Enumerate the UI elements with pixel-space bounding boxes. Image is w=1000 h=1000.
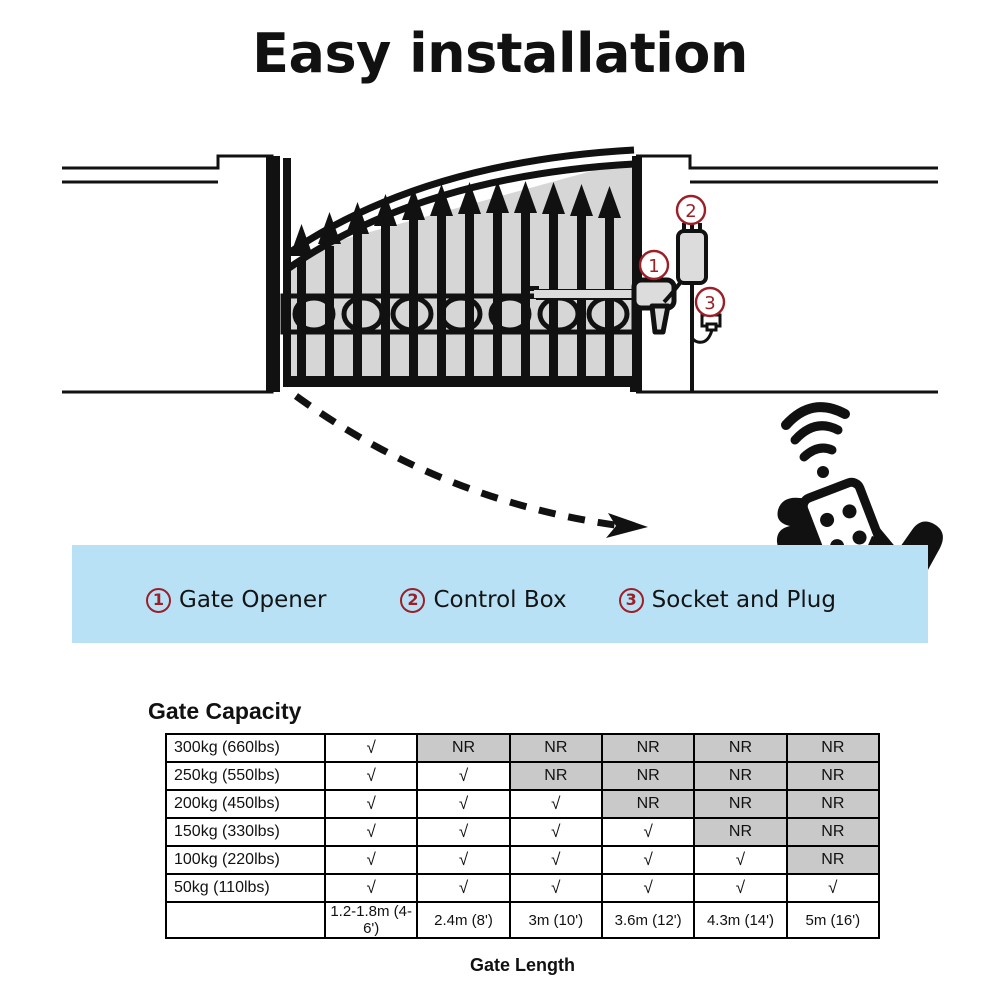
cell-not-recommended: NR xyxy=(787,846,879,874)
cell-not-recommended: NR xyxy=(510,762,602,790)
column-header-length: 1.2-1.8m (4-6') xyxy=(325,902,417,938)
page-title: Easy installation xyxy=(0,22,1000,85)
cell-supported: √ xyxy=(694,846,786,874)
cell-not-recommended: NR xyxy=(694,790,786,818)
callout-2: 2 xyxy=(677,196,705,224)
cell-supported: √ xyxy=(510,818,602,846)
row-header-weight: 250kg (550lbs) xyxy=(166,762,325,790)
table-row: 250kg (550lbs)√√NRNRNRNR xyxy=(166,762,879,790)
cell-supported: √ xyxy=(325,762,417,790)
table-row: 300kg (660lbs)√NRNRNRNRNR xyxy=(166,734,879,762)
column-header-length: 2.4m (8') xyxy=(417,902,509,938)
svg-text:2: 2 xyxy=(685,201,696,222)
column-header-length: 3m (10') xyxy=(510,902,602,938)
legend-item-control-box: 2 Control Box xyxy=(400,587,566,613)
cell-supported: √ xyxy=(325,818,417,846)
table-column-label-row: 1.2-1.8m (4-6')2.4m (8')3m (10')3.6m (12… xyxy=(166,902,879,938)
row-header-weight: 200kg (450lbs) xyxy=(166,790,325,818)
callout-1: 1 xyxy=(640,251,668,279)
cell-not-recommended: NR xyxy=(787,790,879,818)
cell-not-recommended: NR xyxy=(602,790,694,818)
legend-item-gate-opener: 1 Gate Opener xyxy=(146,587,326,613)
cell-not-recommended: NR xyxy=(787,734,879,762)
column-header-length: 3.6m (12') xyxy=(602,902,694,938)
callout-3: 3 xyxy=(696,288,724,316)
table-row: 50kg (110lbs)√√√√√√ xyxy=(166,874,879,902)
cell-supported: √ xyxy=(510,846,602,874)
cell-supported: √ xyxy=(694,874,786,902)
column-header-length: 4.3m (14') xyxy=(694,902,786,938)
legend-label-3: Socket and Plug xyxy=(652,587,836,613)
gate-capacity-table: 300kg (660lbs)√NRNRNRNRNR250kg (550lbs)√… xyxy=(165,733,880,939)
svg-text:1: 1 xyxy=(648,256,659,277)
legend-marker-3: 3 xyxy=(619,588,644,613)
cell-not-recommended: NR xyxy=(602,762,694,790)
table-row: 100kg (220lbs)√√√√√NR xyxy=(166,846,879,874)
row-header-weight: 150kg (330lbs) xyxy=(166,818,325,846)
cell-supported: √ xyxy=(325,874,417,902)
row-header-weight: 100kg (220lbs) xyxy=(166,846,325,874)
socket-and-plug-device xyxy=(692,315,720,342)
cell-supported: √ xyxy=(417,790,509,818)
left-wall xyxy=(62,156,272,392)
cell-supported: √ xyxy=(325,846,417,874)
corner-cell xyxy=(166,902,325,938)
legend-list: 1 Gate Opener 2 Control Box 3 Socket and… xyxy=(72,580,928,620)
gate-swing-arc xyxy=(296,396,648,538)
cell-not-recommended: NR xyxy=(602,734,694,762)
legend-marker-2: 2 xyxy=(400,588,425,613)
cell-not-recommended: NR xyxy=(694,818,786,846)
cell-supported: √ xyxy=(417,874,509,902)
cell-not-recommended: NR xyxy=(694,734,786,762)
cell-not-recommended: NR xyxy=(417,734,509,762)
cell-supported: √ xyxy=(510,790,602,818)
cell-not-recommended: NR xyxy=(787,762,879,790)
axis-label-gate-length: Gate Length xyxy=(165,955,880,976)
cell-supported: √ xyxy=(510,874,602,902)
cell-supported: √ xyxy=(787,874,879,902)
cell-supported: √ xyxy=(325,790,417,818)
cell-supported: √ xyxy=(602,846,694,874)
installation-diagram: 1 2 3 xyxy=(0,100,1000,570)
cell-not-recommended: NR xyxy=(694,762,786,790)
capacity-title: Gate Capacity xyxy=(148,698,301,725)
cell-supported: √ xyxy=(325,734,417,762)
cell-supported: √ xyxy=(417,846,509,874)
cell-not-recommended: NR xyxy=(787,818,879,846)
cell-supported: √ xyxy=(417,818,509,846)
gate-leaf xyxy=(283,150,634,387)
legend-label-2: Control Box xyxy=(433,587,566,613)
legend-marker-1: 1 xyxy=(146,588,171,613)
cell-supported: √ xyxy=(417,762,509,790)
column-header-length: 5m (16') xyxy=(787,902,879,938)
cell-supported: √ xyxy=(602,818,694,846)
svg-text:3: 3 xyxy=(704,293,715,314)
left-gate-pillar xyxy=(266,156,280,392)
table-row: 150kg (330lbs)√√√√NRNR xyxy=(166,818,879,846)
legend-label-1: Gate Opener xyxy=(179,587,326,613)
legend-item-socket-and-plug: 3 Socket and Plug xyxy=(619,587,836,613)
cell-not-recommended: NR xyxy=(510,734,602,762)
row-header-weight: 50kg (110lbs) xyxy=(166,874,325,902)
row-header-weight: 300kg (660lbs) xyxy=(166,734,325,762)
cell-supported: √ xyxy=(602,874,694,902)
table-row: 200kg (450lbs)√√√NRNRNR xyxy=(166,790,879,818)
